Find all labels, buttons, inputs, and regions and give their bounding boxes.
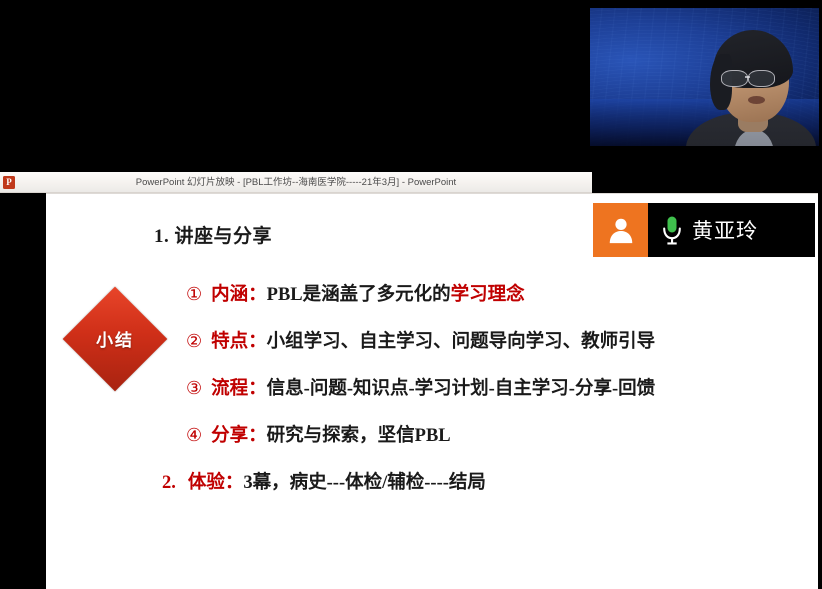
speaker-avatar xyxy=(593,203,648,257)
summary-row-number: 2. xyxy=(162,473,176,493)
slide-bullet-1: ①内涵：PBL是涵盖了多元化的学习理念 xyxy=(186,280,525,306)
slide-summary-row: 2.体验：3幕，病史---体检/辅检----结局 xyxy=(162,468,486,494)
bullet-highlight-1: 学习理念 xyxy=(451,285,525,305)
bullet-key-1: 内涵： xyxy=(211,285,267,305)
powerpoint-title-bar[interactable]: P PowerPoint 幻灯片放映 - [PBL工作坊--海南医学院-----… xyxy=(0,172,592,193)
bullet-body-2: 小组学习、自主学习、问题导向学习、教师引导 xyxy=(267,332,656,352)
summary-diamond-shape xyxy=(63,287,168,392)
window-title: PowerPoint 幻灯片放映 - [PBL工作坊--海南医学院-----21… xyxy=(0,172,592,193)
webcam-video-frame xyxy=(590,8,819,146)
speaker-name-label: 黄亚玲 xyxy=(692,215,758,245)
summary-row-key: 体验： xyxy=(188,473,244,493)
glasses-right-lens xyxy=(748,70,775,87)
webcam-video-feed[interactable] xyxy=(585,0,822,161)
glasses-left-lens xyxy=(721,70,748,87)
screen-capture-stage: P PowerPoint 幻灯片放映 - [PBL工作坊--海南医学院-----… xyxy=(0,0,822,589)
bullet-marker-2: ② xyxy=(186,331,202,352)
bullet-key-3: 流程： xyxy=(211,379,267,399)
summary-row-body: 3幕，病史---体检/辅检----结局 xyxy=(243,473,486,493)
slide-heading: 1. 讲座与分享 xyxy=(154,221,272,248)
person-icon xyxy=(606,215,636,245)
bullet-body-1: PBL是涵盖了多元化的 xyxy=(267,285,451,305)
microphone-icon xyxy=(661,215,683,245)
bullet-marker-3: ③ xyxy=(186,378,202,399)
bullet-marker-1: ① xyxy=(186,284,202,305)
slide-bullet-3: ③流程：信息-问题-知识点-学习计划-自主学习-分享-回馈 xyxy=(186,374,655,400)
presenter-silhouette xyxy=(686,30,816,146)
bullet-body-4: 研究与探索，坚信PBL xyxy=(267,426,451,446)
bullet-key-2: 特点： xyxy=(211,332,267,352)
bullet-marker-4: ④ xyxy=(186,425,202,446)
slideshow-left-gutter xyxy=(0,193,46,589)
bullet-key-4: 分享： xyxy=(211,426,267,446)
slide-bullet-4: ④分享：研究与探索，坚信PBL xyxy=(186,421,451,447)
presenter-mouth xyxy=(748,96,765,104)
slide-bullet-2: ②特点：小组学习、自主学习、问题导向学习、教师引导 xyxy=(186,327,655,353)
glasses-bridge xyxy=(745,76,750,78)
speaker-name-banner[interactable]: 黄亚玲 xyxy=(593,203,815,257)
bullet-body-3: 信息-问题-知识点-学习计划-自主学习-分享-回馈 xyxy=(267,379,655,399)
